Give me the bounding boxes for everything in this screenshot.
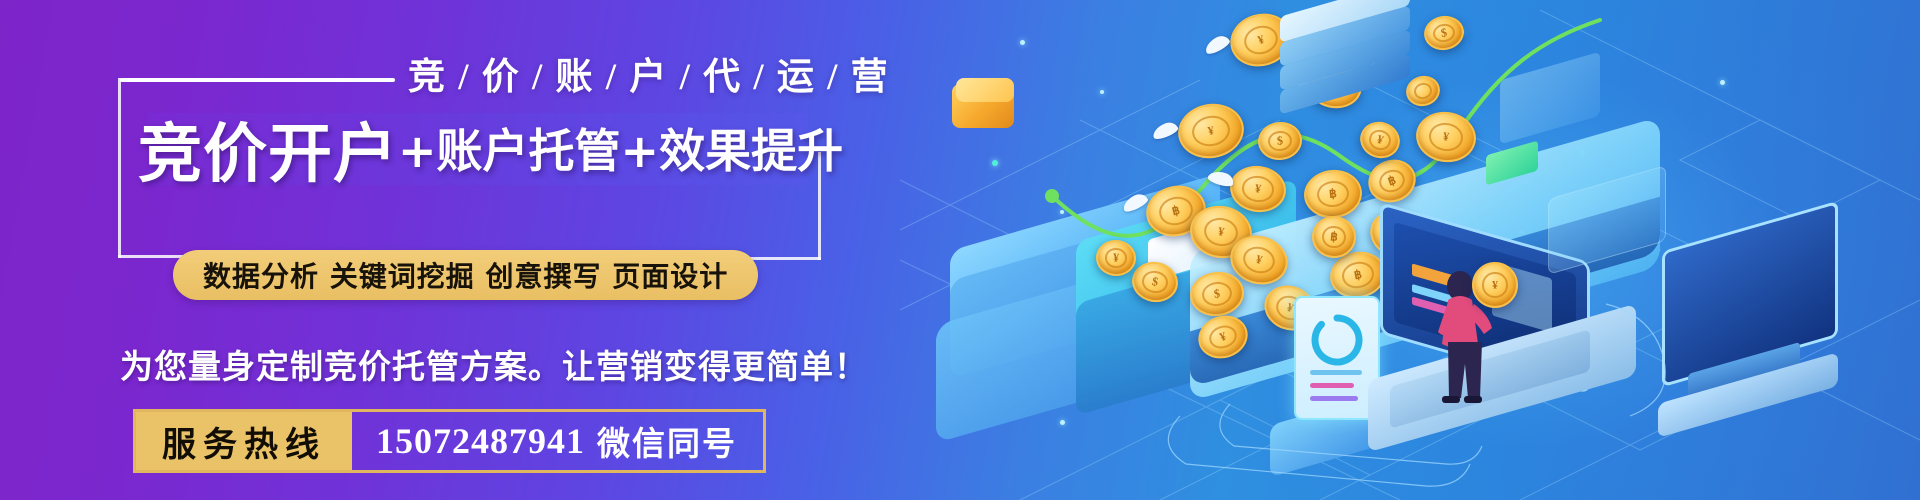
services-pill: 数据分析 关键词挖掘 创意撰写 页面设计 [173,250,758,300]
hotline-label: 服务热线 [136,412,352,470]
hotline-note: 微信同号 [597,417,737,465]
hotline-bar[interactable]: 服务热线 15072487941 微信同号 [133,409,766,473]
tagline-rule [120,78,395,82]
subtitle: 为您量身定制竞价托管方案。让营销变得更简单！ [120,340,868,388]
illustration-artwork: ¥ $ ¥ ¥ ฿ ¥ ฿ ¥ $ ¥ ฿ ฿ ¥ ¥ $ ฿ ¥ $ ¥ $ [900,0,1920,500]
marketing-banner: ¥ $ ¥ ¥ ฿ ¥ ฿ ¥ $ ¥ ฿ ฿ ¥ ¥ $ ฿ ¥ $ ¥ $ [0,0,1920,500]
headline: 竞价开户 +账户托管+效果提升 [138,104,858,194]
circuit-lines-icon [900,0,1920,500]
headline-primary: 竞价开户 [138,103,398,195]
hotline-number-group[interactable]: 15072487941 微信同号 [352,412,763,470]
hotline-number: 15072487941 [376,420,585,462]
tagline: 竞 / 价 / 账 / 户 / 代 / 运 / 营 [408,46,890,100]
headline-secondary: +账户托管+效果提升 [398,115,843,184]
